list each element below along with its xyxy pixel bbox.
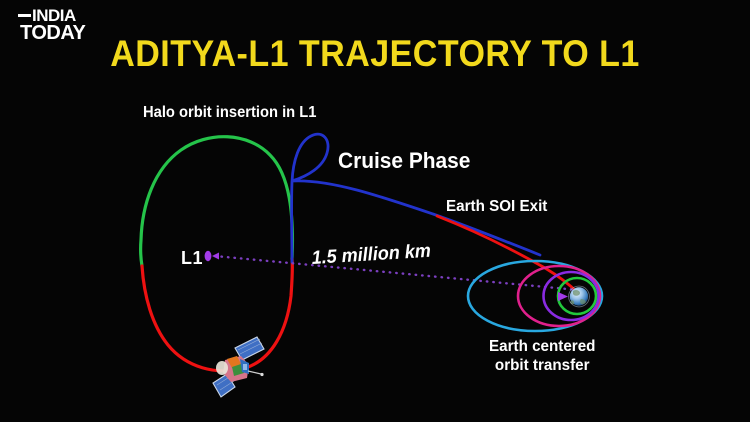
orbit-direction-arrow-icon [558,292,568,301]
logo-text-india: INDIA [32,8,114,23]
halo-orbit-green-arc [141,137,293,266]
label-cruise-phase: Cruise Phase [338,148,470,174]
l1-arrow-icon [212,253,219,260]
label-earth-centered-line1: Earth centered [489,338,595,357]
page-title: ADITYA-L1 TRAJECTORY TO L1 [30,33,720,75]
label-halo-orbit-insertion: Halo orbit insertion in L1 [143,104,316,122]
label-earth-centered-line2: orbit transfer [489,357,595,376]
infographic-canvas: INDIA TODAY ADITYA-L1 TRAJECTORY TO L1 H… [0,0,750,422]
label-earth-centered-orbit-transfer: Earth centered orbit transfer [489,338,595,376]
label-earth-soi-exit: Earth SOI Exit [446,198,547,216]
label-l1-point: L1 [181,248,203,269]
aditya-l1-spacecraft [203,330,269,402]
l1-point-marker [205,251,212,261]
earth-soi-exit-red-path [437,216,578,293]
logo-bar [18,14,31,17]
